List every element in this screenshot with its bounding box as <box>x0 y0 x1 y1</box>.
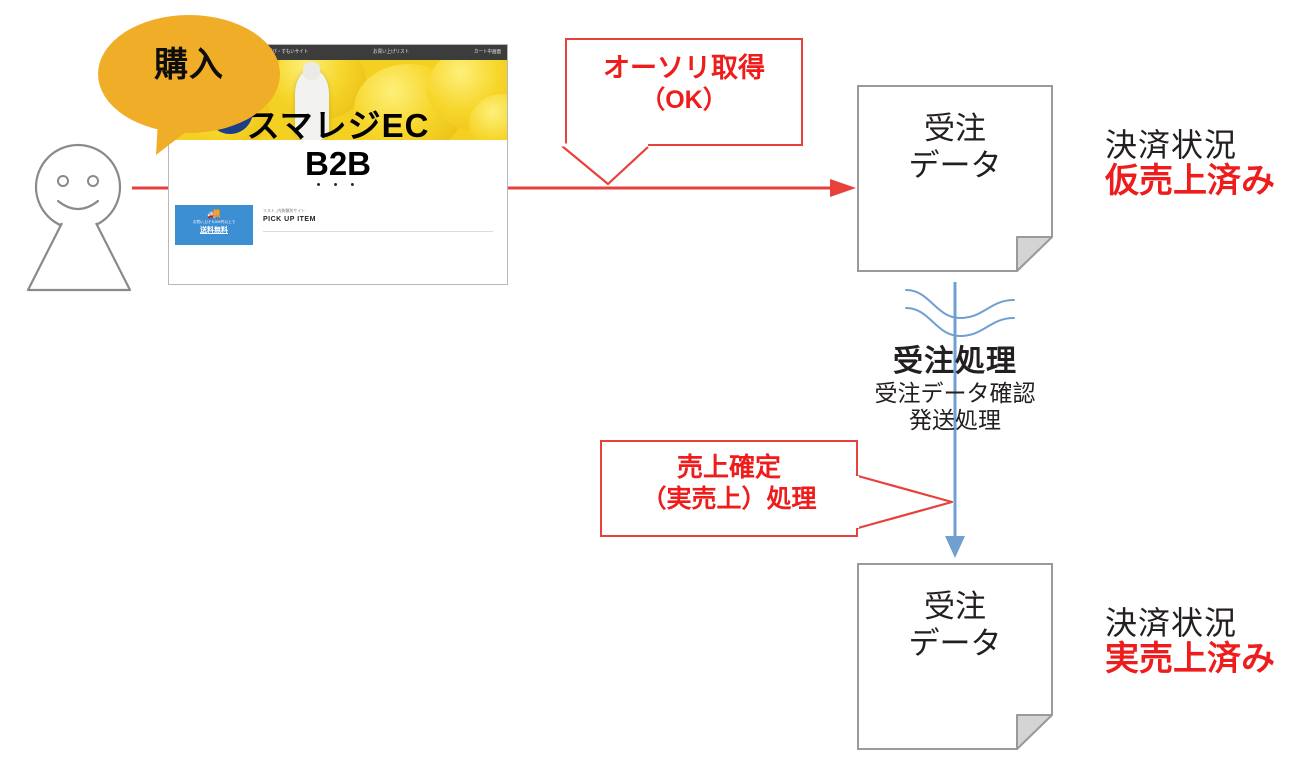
document-bottom-line-1: 受注 <box>857 589 1053 626</box>
pick-up-title: PICK UP ITEM <box>263 214 493 227</box>
pick-up-section: リスト_内装類別サイト PICK UP ITEM <box>263 208 493 232</box>
purchase-speech-bubble: 購入 <box>96 12 296 157</box>
callout-authorization-tail <box>560 140 730 190</box>
diagram-canvas: ロゴ 選び・すもいサイト お買い上げリスト カート中画面 OFF 25 キャンペ… <box>0 0 1310 769</box>
ec-nav-item-3[interactable]: カート中画面 <box>474 50 501 55</box>
process-title: 受注処理 <box>835 345 1075 380</box>
document-order-data-bottom: 受注 データ <box>857 563 1053 750</box>
document-order-data-top: 受注 データ <box>857 85 1053 272</box>
document-bottom-line-2: データ <box>857 626 1053 663</box>
document-top-line-1: 受注 <box>857 111 1053 148</box>
pick-up-divider <box>263 231 493 232</box>
speech-bubble-shape <box>96 12 296 157</box>
status-bottom-title: 決済状況 <box>1105 606 1275 641</box>
free-shipping-banner[interactable]: 🚚 お買い上げ 5,000円以上で 送料無料 <box>175 205 253 245</box>
callout-sales-confirm-line-1: 売上確定 <box>602 452 856 484</box>
ec-content-area: • • • 🚚 お買い上げ 5,000円以上で 送料無料 リスト_内装類別サイト… <box>169 140 507 285</box>
speech-bubble-label: 購入 <box>96 48 282 82</box>
document-top-label: 受注 データ <box>857 111 1053 184</box>
status-top-title: 決済状況 <box>1105 128 1275 163</box>
bottle-cap-shape <box>303 62 320 80</box>
callout-authorization-line-2: （OK） <box>567 85 801 116</box>
process-sub-line-2: 発送処理 <box>835 407 1075 434</box>
truck-icon: 🚚 <box>175 209 253 220</box>
status-badge-top: 決済状況 仮売上済み <box>1105 128 1275 201</box>
callout-authorization: オーソリ取得 （OK） <box>565 38 803 146</box>
banner-line-2: 送料無料 <box>175 225 253 236</box>
status-top-value: 仮売上済み <box>1105 163 1275 200</box>
status-bottom-value: 実売上済み <box>1105 641 1275 678</box>
customer-stick-figure <box>18 135 168 295</box>
document-bottom-label: 受注 データ <box>857 589 1053 662</box>
callout-sales-confirm: 売上確定 （実売上）処理 <box>600 440 858 537</box>
ec-nav-item-2[interactable]: お買い上げリスト <box>373 50 409 55</box>
status-badge-bottom: 決済状況 実売上済み <box>1105 606 1275 679</box>
carousel-dots-icon[interactable]: • • • <box>169 180 507 191</box>
process-sub-line-1: 受注データ確認 <box>835 380 1075 407</box>
callout-sales-confirm-line-2: （実売上）処理 <box>602 484 856 515</box>
order-processing-label: 受注処理 受注データ確認 発送処理 <box>835 345 1075 434</box>
bottle-shape <box>295 70 329 140</box>
callout-authorization-line-1: オーソリ取得 <box>567 52 801 85</box>
document-top-line-2: データ <box>857 148 1053 185</box>
